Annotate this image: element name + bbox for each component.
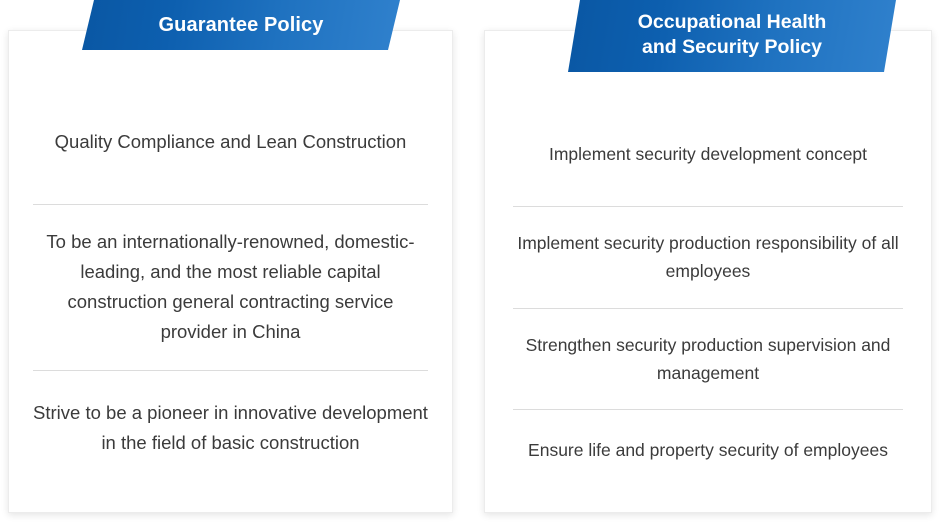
policy-cards-board: Quality Compliance and Lean Construction… <box>0 0 940 525</box>
occupational-health-policy-card: Implement security development concept I… <box>484 30 932 513</box>
policy-item-text: Quality Compliance and Lean Construction <box>55 127 407 157</box>
list-item: Implement security production responsibi… <box>513 206 903 308</box>
list-item: Quality Compliance and Lean Construction <box>33 81 428 204</box>
list-item: Strengthen security production supervisi… <box>513 308 903 410</box>
policy-item-text: Implement security development concept <box>549 140 867 168</box>
guarantee-policy-item-list: Quality Compliance and Lean Construction… <box>9 81 452 512</box>
policy-item-text: Implement security production responsibi… <box>513 229 903 285</box>
occupational-health-policy-banner: Occupational Health and Security Policy <box>568 0 896 72</box>
list-item: Ensure life and property security of emp… <box>513 409 903 512</box>
policy-item-text: Strive to be a pioneer in innovative dev… <box>33 398 428 458</box>
policy-item-text: Ensure life and property security of emp… <box>528 436 888 464</box>
card-title: Occupational Health and Security Policy <box>638 10 827 60</box>
card-title-line-1: Occupational Health <box>638 10 827 35</box>
policy-item-text: Strengthen security production supervisi… <box>513 331 903 387</box>
guarantee-policy-banner: Guarantee Policy <box>82 0 400 50</box>
list-item: To be an internationally-renowned, domes… <box>33 204 428 370</box>
policy-item-text: To be an internationally-renowned, domes… <box>33 227 428 347</box>
card-title-line-2: and Security Policy <box>638 35 827 60</box>
list-item: Strive to be a pioneer in innovative dev… <box>33 370 428 512</box>
guarantee-policy-card: Quality Compliance and Lean Construction… <box>8 30 453 513</box>
list-item: Implement security development concept <box>513 103 903 206</box>
card-title: Guarantee Policy <box>159 14 324 37</box>
occupational-health-policy-item-list: Implement security development concept I… <box>485 103 931 512</box>
